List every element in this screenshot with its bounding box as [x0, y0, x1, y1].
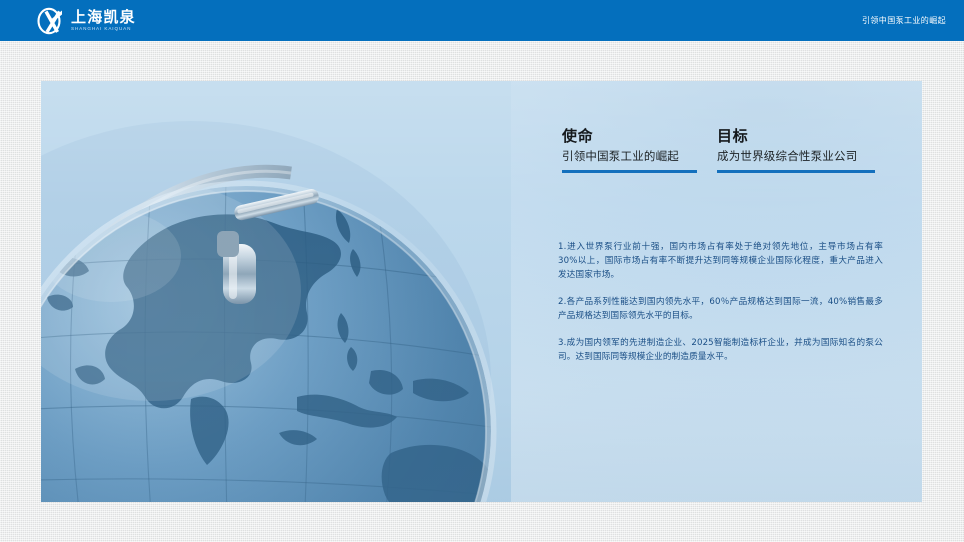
company-logo[interactable]: 上海凯泉 SHANGHAI KAIQUAN	[36, 6, 136, 35]
app-header-bar: 上海凯泉 SHANGHAI KAIQUAN 引领中国泵工业的崛起	[0, 0, 964, 41]
paragraph-2: 2.各产品系列性能达到国内领先水平，60％产品规格达到国际一流，40%销售最多产…	[558, 296, 883, 324]
logo-text-block: 上海凯泉 SHANGHAI KAIQUAN	[71, 10, 136, 32]
kaiquan-monogram-icon	[36, 7, 66, 35]
goal-subtitle: 成为世界级综合性泵业公司	[717, 150, 892, 164]
goal-underline	[717, 170, 875, 173]
column-mission: 使命 引领中国泵工业的崛起	[562, 128, 717, 173]
mission-underline	[562, 170, 697, 173]
paragraph-3: 3.成为国内领军的先进制造企业、2025智能制造标杆企业，并成为国际知名的泵公司…	[558, 337, 883, 365]
column-goal: 目标 成为世界级综合性泵业公司	[717, 128, 892, 173]
logo-english-name: SHANGHAI KAIQUAN	[71, 27, 136, 32]
mission-title: 使命	[562, 128, 717, 145]
slide-panel: 使命 引领中国泵工业的崛起 目标 成为世界级综合性泵业公司 1.进入世界泵行业前…	[41, 81, 922, 502]
panel-text-content: 使命 引领中国泵工业的崛起 目标 成为世界级综合性泵业公司 1.进入世界泵行业前…	[521, 81, 922, 502]
body-paragraph-list: 1.进入世界泵行业前十强，国内市场占有率处于绝对领先地位，主导市场占有率30%以…	[558, 241, 883, 364]
goal-title: 目标	[717, 128, 892, 145]
paragraph-1: 1.进入世界泵行业前十强，国内市场占有率处于绝对领先地位，主导市场占有率30%以…	[558, 241, 883, 283]
headings-row: 使命 引领中国泵工业的崛起 目标 成为世界级综合性泵业公司	[562, 128, 892, 173]
logo-chinese-name: 上海凯泉	[71, 10, 136, 25]
header-tagline: 引领中国泵工业的崛起	[862, 0, 946, 41]
mission-subtitle: 引领中国泵工业的崛起	[562, 150, 717, 164]
